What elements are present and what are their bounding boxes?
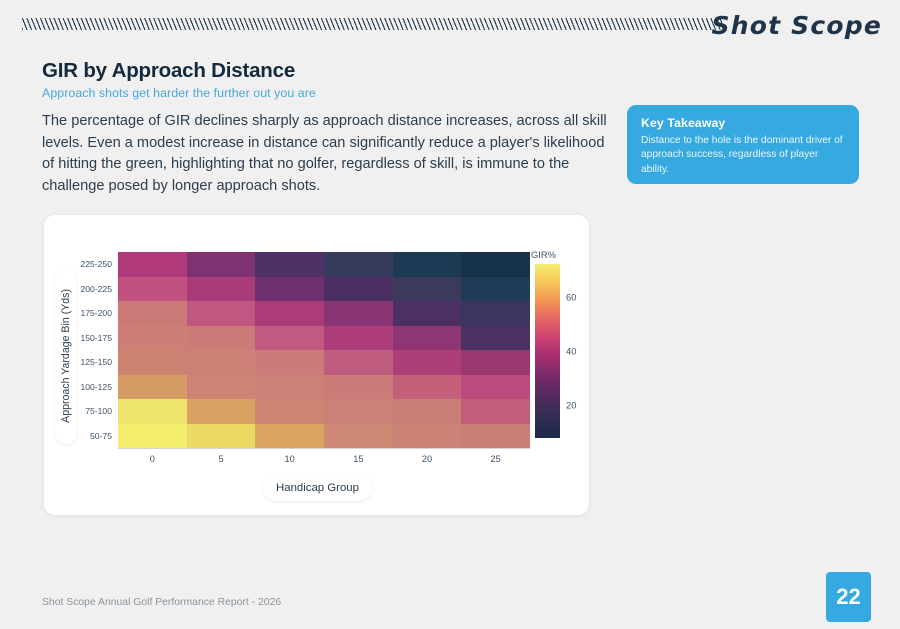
heatmap-cell [461, 375, 530, 400]
heatmap-cell [393, 424, 462, 449]
heatmap-cell [393, 277, 462, 302]
footer-text: Shot Scope Annual Golf Performance Repor… [42, 597, 281, 608]
heatmap-cell [461, 301, 530, 326]
heatmap-cell [118, 326, 187, 351]
heatmap-cell [255, 252, 324, 277]
heatmap-cell [324, 301, 393, 326]
heatmap-cell [461, 350, 530, 375]
diagonal-hatch-icon [22, 18, 722, 30]
heatmap-cell [187, 350, 256, 375]
x-axis-line [118, 448, 530, 449]
x-tick-label: 0 [150, 454, 155, 464]
heatmap-cell [255, 301, 324, 326]
heatmap-cell [393, 375, 462, 400]
page-subtitle: Approach shots get harder the further ou… [42, 86, 316, 100]
heatmap-cell [118, 375, 187, 400]
heatmap-cell [118, 350, 187, 375]
heatmap-cell [324, 424, 393, 449]
heatmap-cell [393, 399, 462, 424]
heatmap-cell [118, 399, 187, 424]
x-tick-label: 5 [218, 454, 223, 464]
heatmap-cell [187, 252, 256, 277]
colorbar-tick-label: 20 [566, 400, 576, 411]
x-tick-label: 15 [353, 454, 363, 464]
heatmap-cell [255, 350, 324, 375]
slide-root: Shot Scope GIR by Approach Distance Appr… [0, 0, 900, 629]
shot-scope-logo: Shot Scope [712, 11, 882, 40]
heatmap-cell [255, 424, 324, 449]
slide-header: Shot Scope [0, 0, 900, 46]
y-tick-label: 100-125 [80, 382, 112, 392]
key-takeaway-title: Key Takeaway [641, 116, 845, 130]
heatmap-cell [461, 277, 530, 302]
heatmap-cell [324, 350, 393, 375]
heatmap-cell [255, 399, 324, 424]
chart-card: 225-250200-225175-200150-175125-150100-1… [44, 215, 589, 515]
y-axis-label-text: Approach Yardage Bin (Yds) [60, 289, 72, 423]
heatmap-cell [187, 375, 256, 400]
heatmap-cell [187, 277, 256, 302]
colorbar-gradient [535, 264, 560, 438]
y-tick-label: 200-225 [80, 284, 112, 294]
heatmap-cell [118, 424, 187, 449]
heatmap-cell [187, 326, 256, 351]
y-tick-label: 50-75 [90, 431, 112, 441]
heatmap-cell [118, 252, 187, 277]
heatmap-cell [118, 277, 187, 302]
y-tick-label: 125-150 [80, 357, 112, 367]
heatmap-cell [324, 277, 393, 302]
heatmap-cell [324, 252, 393, 277]
x-tick-label: 25 [491, 454, 501, 464]
y-tick-label: 225-250 [80, 259, 112, 269]
page-title: GIR by Approach Distance [42, 59, 295, 83]
heatmap-cell [393, 326, 462, 351]
heatmap-grid [118, 252, 530, 448]
heatmap-cell [461, 424, 530, 449]
heatmap-cell [461, 252, 530, 277]
y-tick-label: 175-200 [80, 308, 112, 318]
x-tick-label: 20 [422, 454, 432, 464]
y-tick-label: 150-175 [80, 333, 112, 343]
heatmap-cell [118, 301, 187, 326]
heatmap-cell [324, 375, 393, 400]
heatmap-cell [393, 252, 462, 277]
heatmap-cell [187, 301, 256, 326]
y-tick-label: 75-100 [85, 406, 112, 416]
heatmap-cell [324, 326, 393, 351]
colorbar-tick-label: 60 [566, 291, 576, 302]
heatmap-cell [187, 424, 256, 449]
heatmap-plot-area: 225-250200-225175-200150-175125-150100-1… [118, 252, 530, 448]
x-tick-label: 10 [285, 454, 295, 464]
heatmap-cell [255, 326, 324, 351]
key-takeaway-body: Distance to the hole is the dominant dri… [641, 134, 845, 177]
y-axis-label-pill: Approach Yardage Bin (Yds) [55, 268, 77, 444]
heatmap-cell [255, 375, 324, 400]
key-takeaway-card: Key Takeaway Distance to the hole is the… [627, 105, 859, 184]
body-paragraph: The percentage of GIR declines sharply a… [42, 111, 618, 197]
heatmap-cell [461, 399, 530, 424]
x-axis-label-pill: Handicap Group [263, 474, 372, 501]
heatmap-cell [393, 301, 462, 326]
heatmap-cell [393, 350, 462, 375]
heatmap-cell [255, 277, 324, 302]
heatmap-cell [324, 399, 393, 424]
page-number-badge: 22 [826, 572, 871, 622]
heatmap-cell [187, 399, 256, 424]
colorbar-title: GIR% [531, 249, 556, 260]
colorbar-tick-label: 40 [566, 346, 576, 357]
heatmap-cell [461, 326, 530, 351]
